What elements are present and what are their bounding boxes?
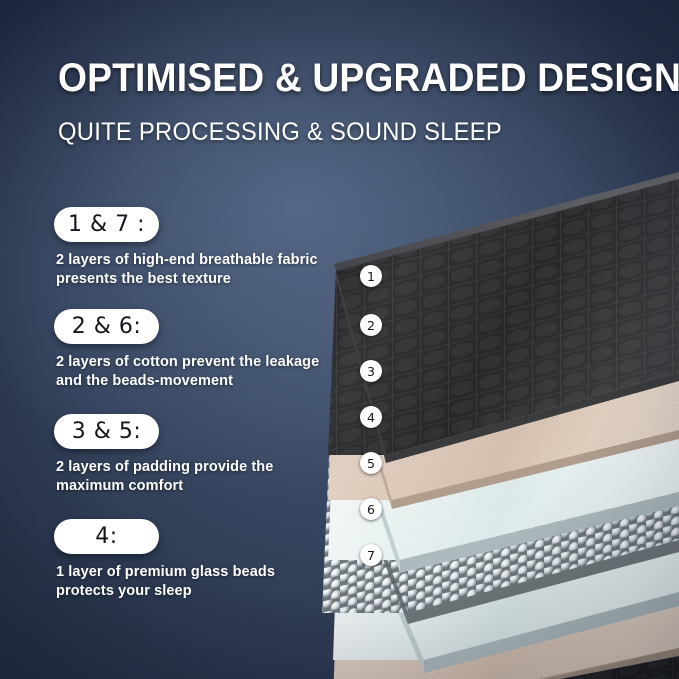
feature-pill-2: 2 & 6: xyxy=(54,309,159,344)
page-title: OPTIMISED & UPGRADED DESIGN xyxy=(58,56,616,100)
layer-badge-6: 6 xyxy=(360,498,382,520)
feature-block-2: 2 & 6: 2 layers of cotton prevent the le… xyxy=(54,309,324,391)
feature-description-1: 2 layers of high-end breathable fabric p… xyxy=(56,251,324,289)
promo-graphic: 1 2 3 4 5 6 7 OPTIMISED & UPGRADED DESIG… xyxy=(0,0,679,679)
feature-description-3: 2 layers of padding provide the maximum … xyxy=(56,458,324,496)
feature-pill-label-1: 1 & 7 : xyxy=(68,212,145,237)
feature-pill-4: 4: xyxy=(54,519,159,554)
layer-badge-2: 2 xyxy=(360,314,382,336)
page-subtitle: QUITE PROCESSING & SOUND SLEEP xyxy=(58,117,628,147)
layer-badge-1: 1 xyxy=(360,265,382,287)
feature-block-4: 4: 1 layer of premium glass beads protec… xyxy=(54,519,324,601)
feature-block-3: 3 & 5: 2 layers of padding provide the m… xyxy=(54,414,324,496)
feature-description-2: 2 layers of cotton prevent the leakage a… xyxy=(56,353,324,391)
layer-badge-5: 5 xyxy=(360,452,382,474)
feature-block-1: 1 & 7 : 2 layers of high-end breathable … xyxy=(54,207,324,289)
layer-badge-3: 3 xyxy=(360,360,382,382)
feature-description-4: 1 layer of premium glass beads protects … xyxy=(56,563,324,601)
layer-badge-4: 4 xyxy=(360,406,382,428)
feature-pill-label-4: 4: xyxy=(95,524,117,549)
feature-pill-label-2: 2 & 6: xyxy=(72,314,142,339)
feature-pill-label-3: 3 & 5: xyxy=(72,419,142,444)
feature-pill-3: 3 & 5: xyxy=(54,414,159,449)
feature-pill-1: 1 & 7 : xyxy=(54,207,159,242)
layer-badge-7: 7 xyxy=(360,544,382,566)
